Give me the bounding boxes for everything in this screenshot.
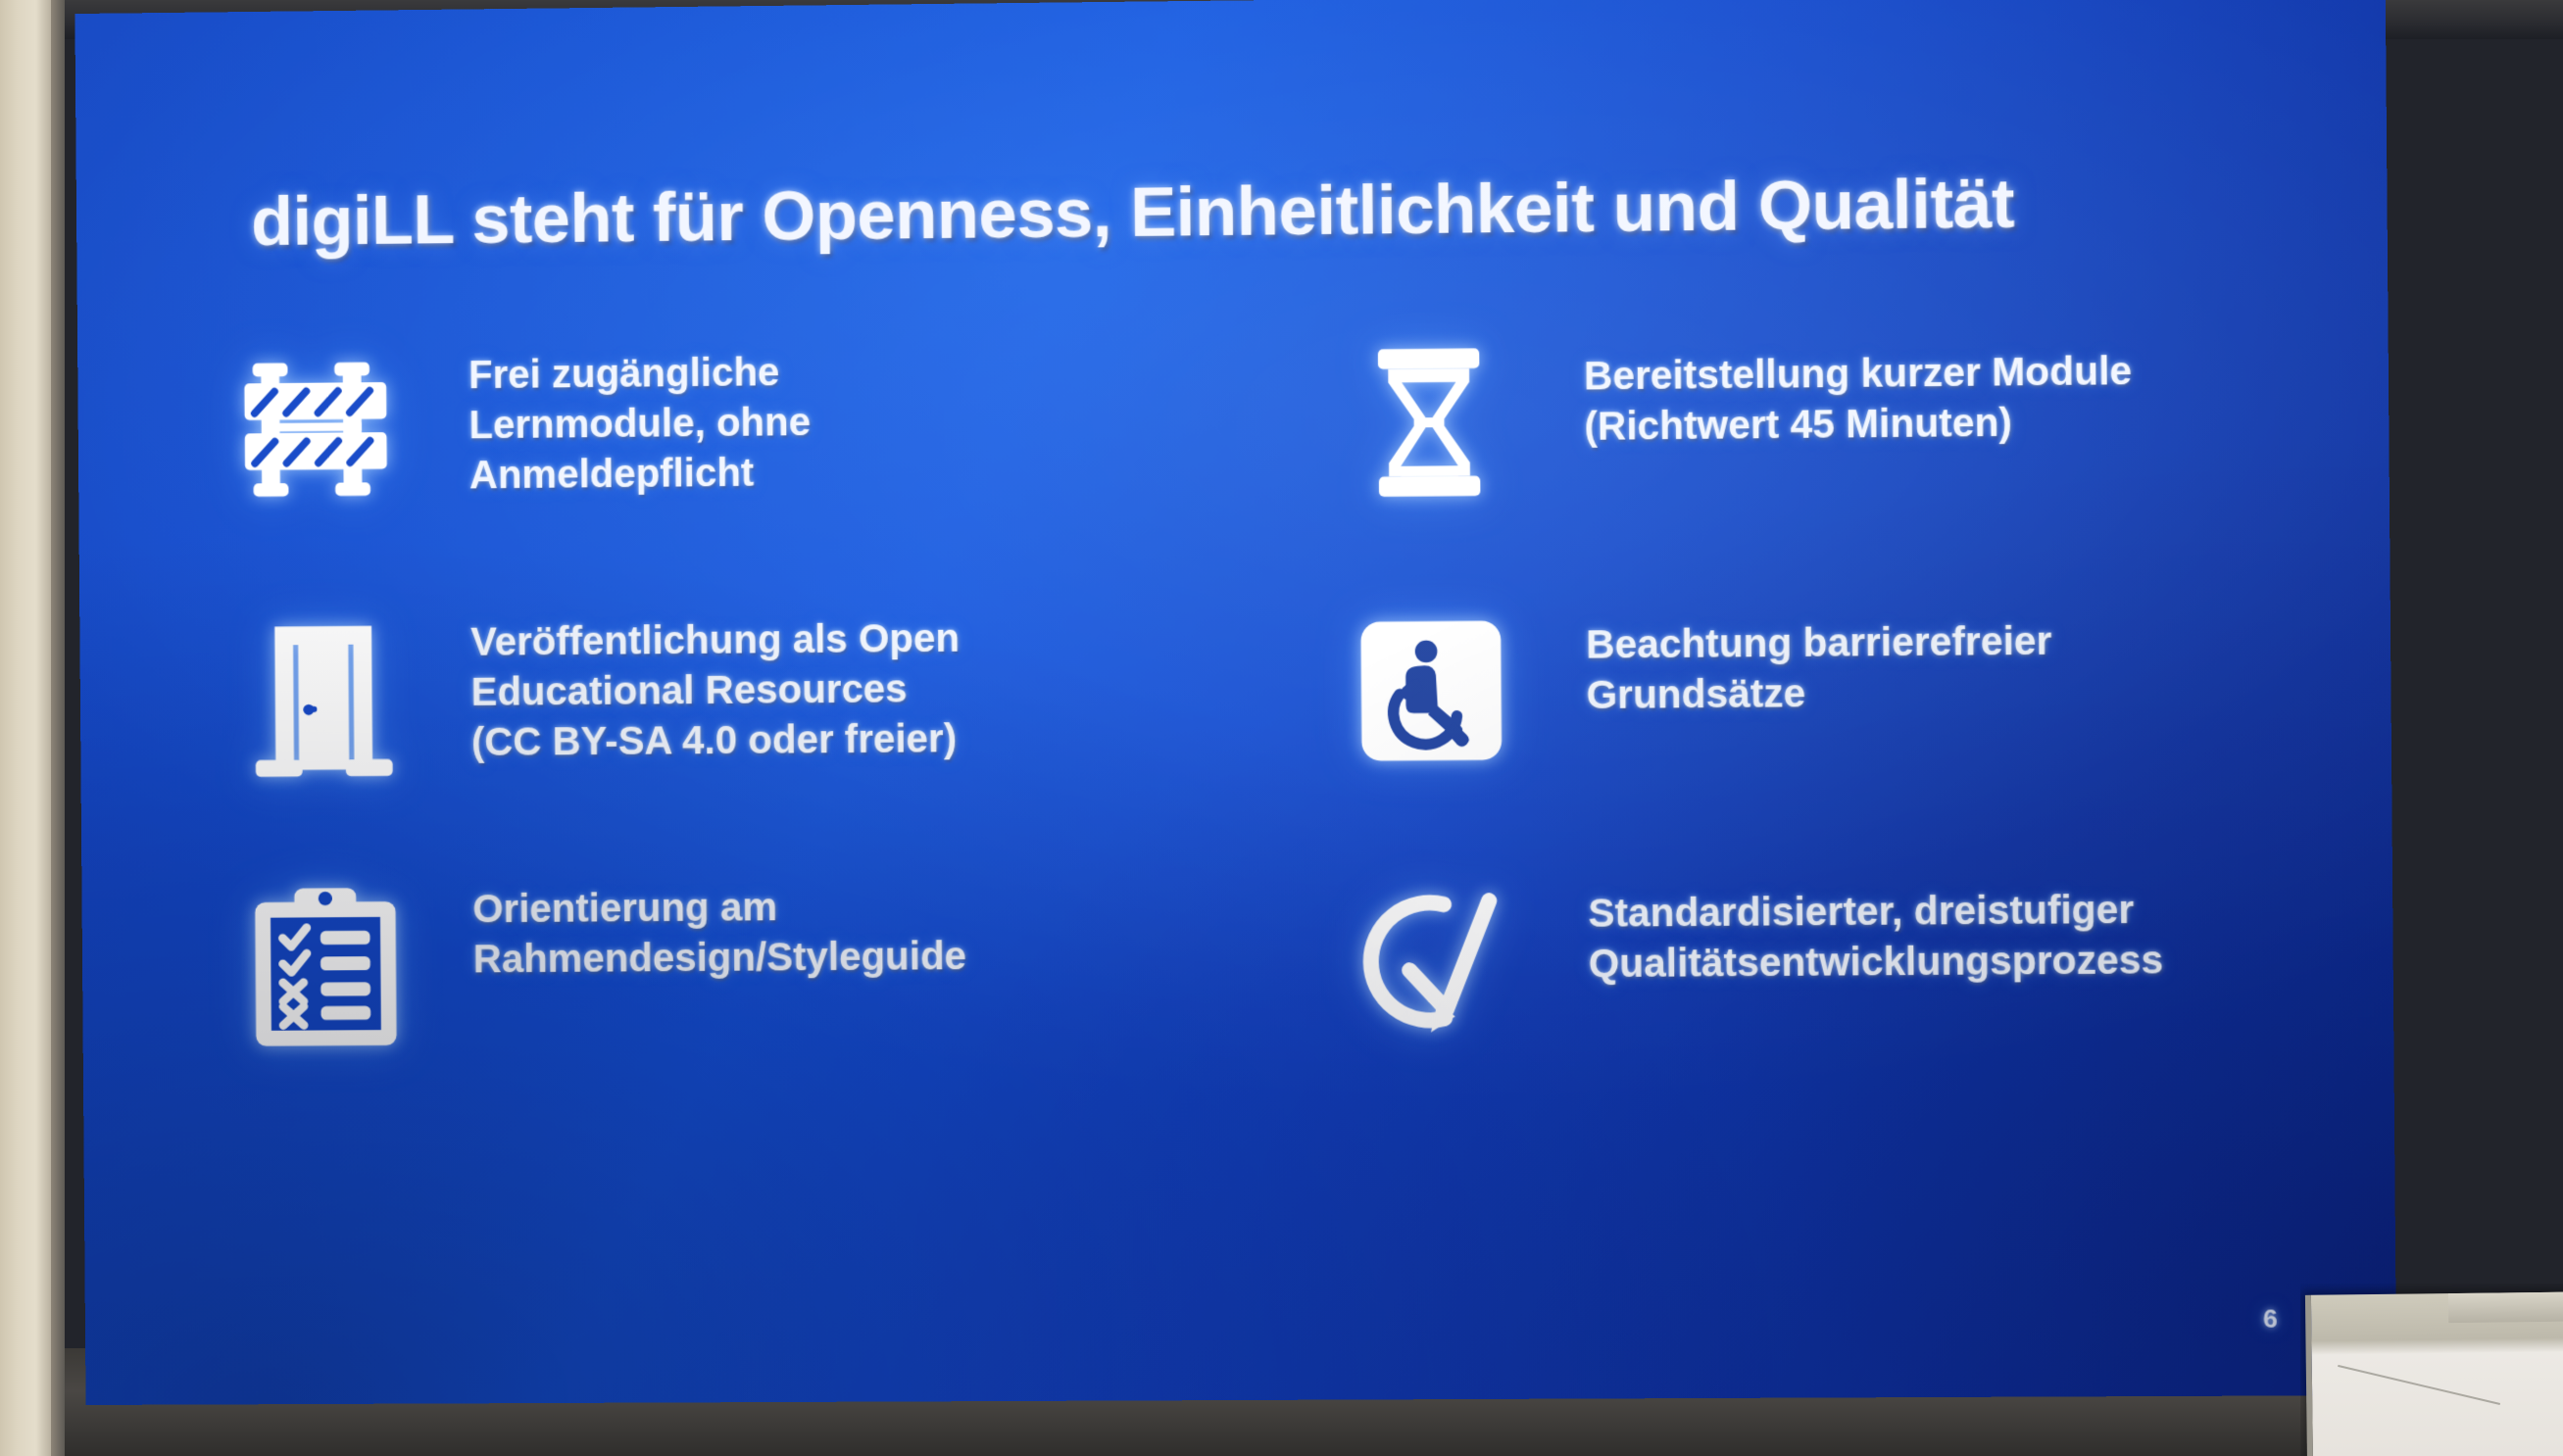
- feature-item-accessibility: Beachtung barrierefreier Grundsätze: [1298, 585, 2322, 861]
- feature-item-quality-process: Standardisierter, dreistufiger Qualitäts…: [1300, 854, 2324, 1130]
- flipchart-paper: [2300, 1284, 2563, 1456]
- feature-line: Educational Resources: [470, 664, 960, 718]
- projected-slide-area: digiLL steht für Openness, Einheitlichke…: [74, 0, 2396, 1405]
- feature-line: Veröffentlichung als Open: [470, 614, 960, 668]
- feature-item-open-access: Frei zugängliche Lernmodule, ohne Anmeld…: [224, 325, 1238, 602]
- feature-grid: Frei zugängliche Lernmodule, ohne Anmeld…: [224, 315, 2324, 1137]
- feature-line: Beachtung barrierefreier: [1586, 616, 2052, 671]
- feature-line: Orientierung am: [472, 882, 966, 936]
- circular-arrow-check-icon: [1335, 860, 1531, 1059]
- slide-page-number: 6: [2263, 1303, 2278, 1334]
- feature-text-accessibility: Beachtung barrierefreier Grundsätze: [1528, 587, 2052, 722]
- feature-line: Grundsätze: [1586, 667, 2052, 721]
- feature-text-short-modules: Bereitstellung kurzer Module (Richtwert …: [1526, 317, 2133, 454]
- road-barrier-icon: [224, 334, 419, 532]
- flipchart-sheet: [2305, 1291, 2563, 1456]
- feature-line: Rahmendesign/Styleguide: [473, 932, 967, 986]
- feature-text-quality-process: Standardisierter, dreistufiger Qualitäts…: [1530, 855, 2163, 991]
- flipchart-top-bar: [2448, 1291, 2563, 1323]
- feature-line: Standardisierter, dreistufiger: [1588, 885, 2163, 940]
- feature-item-oer-publication: Veröffentlichung als Open Educational Re…: [226, 594, 1240, 869]
- feature-line: (CC BY-SA 4.0 oder freier): [471, 714, 961, 768]
- presentation-slide: digiLL steht für Openness, Einheitlichke…: [74, 0, 2396, 1405]
- feature-line: (Richtwert 45 Minuten): [1584, 398, 2132, 454]
- feature-line: Anmeldepflicht: [469, 449, 812, 502]
- flipchart-crease: [2338, 1365, 2500, 1405]
- clipboard-checklist-icon: [228, 868, 422, 1066]
- wheelchair-accessibility-icon: [1333, 592, 1529, 791]
- feature-line: Bereitstellung kurzer Module: [1584, 347, 2132, 403]
- feature-line: Lernmodule, ohne: [468, 398, 811, 452]
- feature-text-open-access: Frei zugängliche Lernmodule, ohne Anmeld…: [418, 330, 812, 503]
- feature-item-styleguide: Orientierung am Rahmendesign/Styleguide: [228, 862, 1242, 1136]
- feature-line: Qualitätsentwicklungsprozess: [1589, 936, 2164, 990]
- feature-line: Frei zugängliche: [468, 348, 811, 402]
- hourglass-icon: [1331, 323, 1527, 522]
- feature-text-styleguide: Orientierung am Rahmendesign/Styleguide: [421, 864, 966, 986]
- feature-item-short-modules: Bereitstellung kurzer Module (Richtwert …: [1296, 315, 2320, 594]
- open-door-icon: [226, 601, 420, 799]
- wall-edge-left: [0, 0, 51, 1456]
- slide-title: digiLL steht für Openness, Einheitlichke…: [251, 164, 2235, 260]
- wall-shadow-strip: [51, 0, 65, 1456]
- feature-text-oer-publication: Veröffentlichung als Open Educational Re…: [419, 596, 961, 768]
- room-scene: digiLL steht für Openness, Einheitlichke…: [0, 0, 2563, 1456]
